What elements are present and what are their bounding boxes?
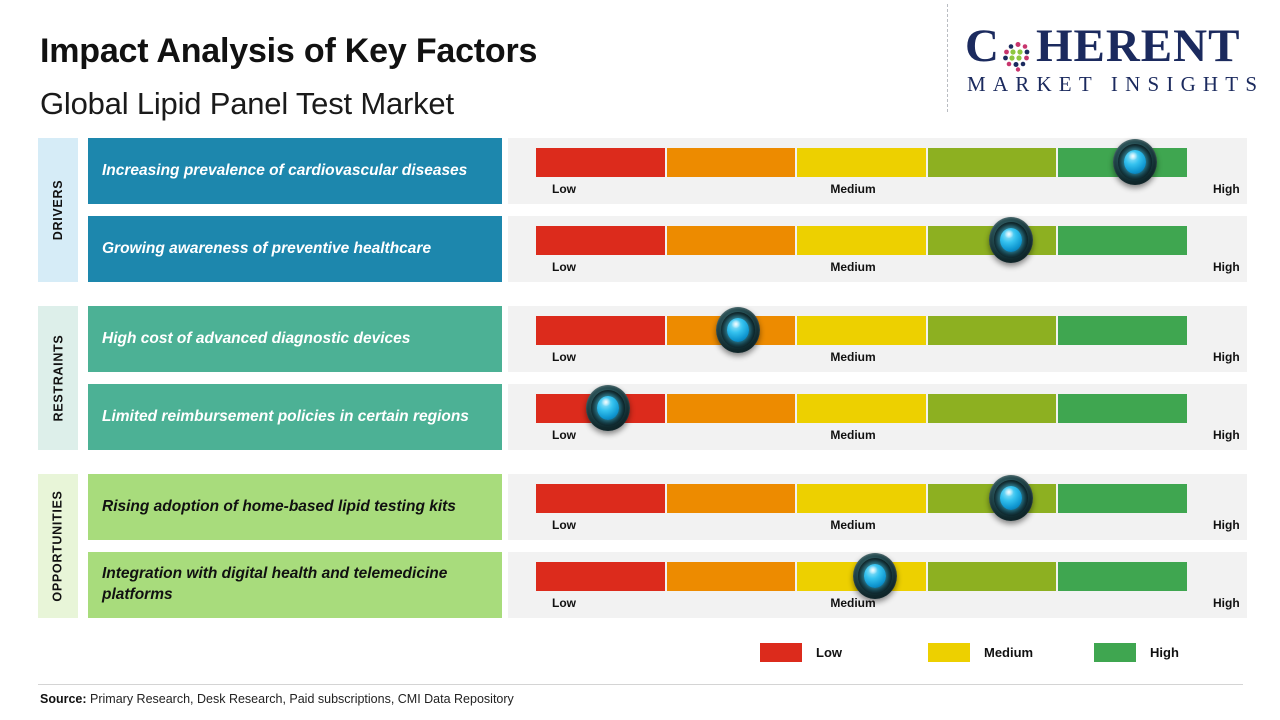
category-label-drivers: DRIVERS xyxy=(38,138,78,282)
header-divider xyxy=(947,4,948,112)
gauge-segment-2 xyxy=(667,316,796,345)
gauge-tick-low: Low xyxy=(552,596,576,610)
gauge-scale-bar xyxy=(536,484,1187,513)
gauge-segment-1 xyxy=(536,484,665,513)
legend-swatch xyxy=(760,643,802,662)
factor-box: Limited reimbursement policies in certai… xyxy=(88,384,502,450)
gauge-scale-bar xyxy=(536,316,1187,345)
gauge-tick-medium: Medium xyxy=(830,350,875,364)
factor-box: Increasing prevalence of cardiovascular … xyxy=(88,138,502,204)
gauge-segment-5 xyxy=(1058,316,1187,345)
legend-swatch xyxy=(928,643,970,662)
gauge-tick-low: Low xyxy=(552,518,576,532)
legend-item: High xyxy=(1094,643,1179,662)
logo-letters-herent: HERENT xyxy=(1036,19,1241,73)
gauge-tick-low: Low xyxy=(552,428,576,442)
gauge-scale-bar xyxy=(536,562,1187,591)
gauge-segment-4 xyxy=(928,316,1057,345)
gauge-segment-2 xyxy=(667,394,796,423)
header: Impact Analysis of Key Factors Global Li… xyxy=(0,0,1280,130)
gauge-scale-bar xyxy=(536,226,1187,255)
gauge-segment-3 xyxy=(797,484,926,513)
legend-item: Low xyxy=(760,643,842,662)
gauge-segment-4 xyxy=(928,394,1057,423)
gauge-segment-3 xyxy=(797,316,926,345)
factor-box: Integration with digital health and tele… xyxy=(88,552,502,618)
category-label-text: DRIVERS xyxy=(51,180,65,240)
impact-gauge: LowMediumHigh xyxy=(508,306,1247,372)
legend: LowMediumHigh xyxy=(760,643,1220,671)
page-title: Impact Analysis of Key Factors xyxy=(40,32,537,71)
factor-box: Growing awareness of preventive healthca… xyxy=(88,216,502,282)
gauge-segment-5 xyxy=(1058,394,1187,423)
impact-gauge: LowMediumHigh xyxy=(508,384,1247,450)
gauge-segment-5 xyxy=(1058,148,1187,177)
gauge-segment-3 xyxy=(797,394,926,423)
gauge-tick-medium: Medium xyxy=(830,428,875,442)
factor-text: Integration with digital health and tele… xyxy=(102,564,488,606)
gauge-segment-2 xyxy=(667,148,796,177)
gauge-segment-3 xyxy=(797,562,926,591)
gauge-segment-1 xyxy=(536,562,665,591)
factor-text: Rising adoption of home-based lipid test… xyxy=(102,497,456,518)
gauge-segment-5 xyxy=(1058,484,1187,513)
gauge-tick-high: High xyxy=(1213,350,1240,364)
factor-text: Growing awareness of preventive healthca… xyxy=(102,239,431,260)
source-note: Source: Primary Research, Desk Research,… xyxy=(40,692,514,706)
legend-label: Medium xyxy=(984,645,1033,660)
gauge-tick-medium: Medium xyxy=(830,518,875,532)
impact-matrix: DRIVERSIncreasing prevalence of cardiova… xyxy=(0,138,1280,608)
factor-box: High cost of advanced diagnostic devices xyxy=(88,306,502,372)
source-label: Source: xyxy=(40,692,87,706)
gauge-scale-bar xyxy=(536,394,1187,423)
gauge-tick-high: High xyxy=(1213,182,1240,196)
gauge-segment-3 xyxy=(797,226,926,255)
factor-text: Increasing prevalence of cardiovascular … xyxy=(102,161,467,182)
impact-gauge: LowMediumHigh xyxy=(508,138,1247,204)
logo-letter-c: C xyxy=(965,19,1000,73)
page-subtitle: Global Lipid Panel Test Market xyxy=(40,86,454,122)
legend-label: Low xyxy=(816,645,842,660)
logo-wordmark: C xyxy=(965,20,1240,72)
gauge-segment-3 xyxy=(797,148,926,177)
company-logo: C xyxy=(965,20,1261,100)
impact-gauge: LowMediumHigh xyxy=(508,474,1247,540)
category-label-opportunities: OPPORTUNITIES xyxy=(38,474,78,618)
gauge-tick-high: High xyxy=(1213,428,1240,442)
legend-label: High xyxy=(1150,645,1179,660)
gauge-segment-4 xyxy=(928,562,1057,591)
gauge-segment-5 xyxy=(1058,562,1187,591)
gauge-segment-1 xyxy=(536,394,665,423)
globe-dots-icon xyxy=(1001,31,1035,65)
gauge-segment-5 xyxy=(1058,226,1187,255)
gauge-tick-high: High xyxy=(1213,596,1240,610)
category-label-restraints: RESTRAINTS xyxy=(38,306,78,450)
gauge-segment-4 xyxy=(928,148,1057,177)
legend-swatch xyxy=(1094,643,1136,662)
factor-box: Rising adoption of home-based lipid test… xyxy=(88,474,502,540)
factor-text: High cost of advanced diagnostic devices xyxy=(102,329,410,350)
gauge-tick-low: Low xyxy=(552,260,576,274)
impact-gauge: LowMediumHigh xyxy=(508,216,1247,282)
gauge-segment-2 xyxy=(667,226,796,255)
gauge-segment-1 xyxy=(536,148,665,177)
source-text: Primary Research, Desk Research, Paid su… xyxy=(87,692,514,706)
gauge-tick-low: Low xyxy=(552,182,576,196)
category-label-text: RESTRAINTS xyxy=(51,335,65,422)
gauge-segment-4 xyxy=(928,226,1057,255)
gauge-segment-2 xyxy=(667,562,796,591)
gauge-tick-high: High xyxy=(1213,260,1240,274)
gauge-segment-1 xyxy=(536,226,665,255)
gauge-scale-bar xyxy=(536,148,1187,177)
gauge-segment-4 xyxy=(928,484,1057,513)
gauge-tick-medium: Medium xyxy=(830,260,875,274)
gauge-segment-1 xyxy=(536,316,665,345)
impact-gauge: LowMediumHigh xyxy=(508,552,1247,618)
category-label-text: OPPORTUNITIES xyxy=(51,490,65,601)
gauge-tick-medium: Medium xyxy=(830,596,875,610)
factor-text: Limited reimbursement policies in certai… xyxy=(102,407,469,428)
footer-divider xyxy=(38,684,1243,685)
gauge-segment-2 xyxy=(667,484,796,513)
gauge-tick-medium: Medium xyxy=(830,182,875,196)
legend-item: Medium xyxy=(928,643,1033,662)
logo-tagline: MARKET INSIGHTS xyxy=(967,72,1264,97)
gauge-tick-low: Low xyxy=(552,350,576,364)
infographic-page: Impact Analysis of Key Factors Global Li… xyxy=(0,0,1280,720)
gauge-tick-high: High xyxy=(1213,518,1240,532)
